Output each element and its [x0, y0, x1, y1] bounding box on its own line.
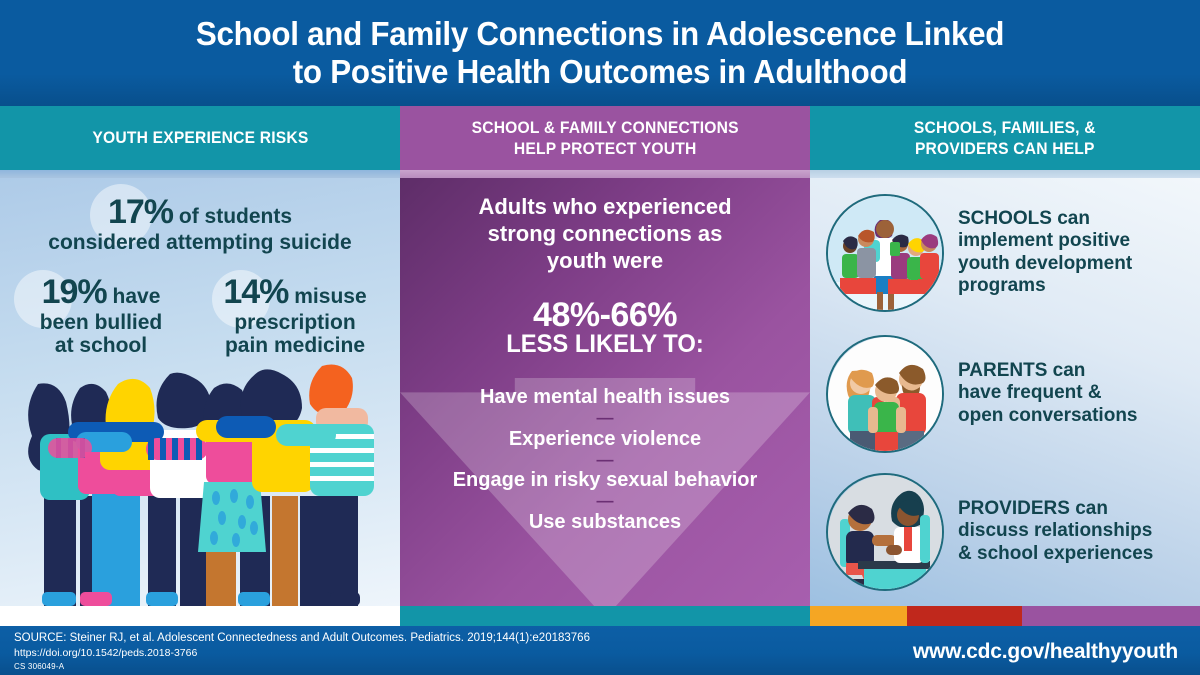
stat-suicide-line-2: considered attempting suicide	[14, 231, 386, 254]
schools-headline: SCHOOLS can	[958, 208, 1132, 230]
outcome-separator: —	[408, 494, 802, 508]
providers-actor: PROVIDERS	[958, 498, 1070, 519]
doctor-patient-icon	[826, 473, 944, 591]
connections-lead-text: Adults who experienced strong connection…	[430, 194, 780, 274]
stat-suicide-line-1: 17% of students	[14, 194, 386, 231]
group-of-youth-illustration	[0, 346, 400, 606]
stripe-segment-red	[907, 606, 1022, 626]
column-header-connections-label: SCHOOL & FAMILY CONNECTIONS HELP PROTECT…	[471, 117, 738, 160]
help-text-schools: SCHOOLS can implement positive youth dev…	[958, 208, 1132, 296]
cs-number: CS 306049-A	[14, 662, 64, 671]
parents-detail-2: open conversations	[958, 405, 1138, 427]
stat-bullied-line-2: been bullied	[16, 311, 186, 334]
source-doi[interactable]: https://doi.org/10.1542/peds.2018-3766	[14, 647, 197, 659]
stat-rx-inline: misuse	[288, 285, 366, 308]
stripe-segment-teal	[400, 606, 810, 626]
lead-line-2: strong connections as	[430, 221, 780, 248]
providers-detail-1: discuss relationships	[958, 520, 1153, 542]
stripe-segment-orange	[810, 606, 907, 626]
infographic-root: School and Family Connections in Adolesc…	[0, 0, 1200, 675]
panel-connections-protect: Adults who experienced strong connection…	[400, 178, 810, 606]
outcome-item: Engage in risky sexual behavior	[408, 466, 802, 494]
column-header-connections: SCHOOL & FAMILY CONNECTIONS HELP PROTECT…	[400, 106, 810, 170]
stat-rx-line-2: prescription	[200, 311, 390, 334]
footer-bar: SOURCE: Steiner RJ, et al. Adolescent Co…	[0, 626, 1200, 675]
parents-actor: PARENTS	[958, 360, 1047, 381]
outcome-item: Experience violence	[408, 425, 802, 453]
schools-detail-3: programs	[958, 275, 1132, 297]
help-text-parents: PARENTS can have frequent & open convers…	[958, 360, 1138, 426]
panel-who-can-help: SCHOOLS can implement positive youth dev…	[810, 178, 1200, 606]
stat-rx-percent: 14%	[223, 273, 288, 311]
schools-detail-1: implement positive	[958, 230, 1132, 252]
column-headers: YOUTH EXPERIENCE RISKS SCHOOL & FAMILY C…	[0, 106, 1200, 170]
header-shadow-right	[810, 170, 1200, 178]
less-likely-label: LESS LIKELY TO:	[439, 330, 772, 359]
family-talking-icon	[826, 335, 944, 453]
stripe-segment-purple	[1022, 606, 1200, 626]
stat-suicide-percent: 17%	[108, 193, 173, 231]
parents-headline: PARENTS can	[958, 360, 1138, 382]
title-line-2: to Positive Health Outcomes in Adulthood	[49, 53, 1151, 91]
stat-rx-line-1: 14% misuse	[200, 274, 390, 311]
parents-connector: can	[1047, 360, 1085, 381]
providers-headline: PROVIDERS can	[958, 498, 1153, 520]
outcomes-list: Have mental health issues — Experience v…	[408, 383, 802, 536]
help-header-line-2: PROVIDERS CAN HELP	[914, 138, 1096, 159]
title-bar: School and Family Connections in Adolesc…	[0, 0, 1200, 106]
help-item-schools: SCHOOLS can implement positive youth dev…	[818, 184, 1196, 321]
help-header-line-1: SCHOOLS, FAMILIES, &	[914, 117, 1096, 138]
lead-line-1: Adults who experienced	[430, 194, 780, 221]
help-item-parents: PARENTS can have frequent & open convers…	[818, 325, 1196, 462]
help-text-providers: PROVIDERS can discuss relationships & sc…	[958, 498, 1153, 564]
outcome-separator: —	[408, 411, 802, 425]
providers-detail-2: & school experiences	[958, 543, 1153, 565]
header-shadow-left	[0, 170, 400, 178]
connections-header-line-2: HELP PROTECT YOUTH	[471, 138, 738, 159]
outcome-item: Have mental health issues	[408, 383, 802, 411]
connections-header-line-1: SCHOOL & FAMILY CONNECTIONS	[471, 117, 738, 138]
panel-youth-risks: 17% of students considered attempting su…	[0, 178, 400, 606]
header-shadow-middle	[400, 170, 810, 178]
column-header-risks: YOUTH EXPERIENCE RISKS	[0, 106, 400, 170]
schools-connector: can	[1052, 208, 1090, 229]
parents-detail-1: have frequent &	[958, 382, 1138, 404]
outcome-item: Use substances	[408, 508, 802, 536]
stat-suicide-inline: of students	[173, 205, 292, 228]
stat-bullied-percent: 19%	[42, 273, 107, 311]
stripe-segment-white	[0, 606, 400, 626]
title-line-1: School and Family Connections in Adolesc…	[49, 15, 1151, 53]
column-header-help: SCHOOLS, FAMILIES, & PROVIDERS CAN HELP	[810, 106, 1200, 170]
stat-bullied-line-1: 19% have	[16, 274, 186, 311]
schools-actor: SCHOOLS	[958, 208, 1052, 229]
providers-connector: can	[1070, 498, 1108, 519]
students-in-classroom-icon	[826, 194, 944, 312]
stat-suicide: 17% of students considered attempting su…	[14, 194, 386, 254]
source-citation: SOURCE: Steiner RJ, et al. Adolescent Co…	[14, 632, 590, 644]
outcome-separator: —	[408, 453, 802, 467]
stat-bullied-inline: have	[107, 285, 161, 308]
lead-line-3: youth were	[430, 248, 780, 275]
column-header-risks-label: YOUTH EXPERIENCE RISKS	[92, 127, 308, 148]
help-item-providers: PROVIDERS can discuss relationships & sc…	[818, 463, 1196, 600]
cdc-url[interactable]: www.cdc.gov/healthyyouth	[913, 640, 1178, 664]
page-title: School and Family Connections in Adolesc…	[49, 15, 1151, 90]
column-header-help-label: SCHOOLS, FAMILIES, & PROVIDERS CAN HELP	[914, 117, 1096, 160]
schools-detail-2: youth development	[958, 253, 1132, 275]
connections-content: Adults who experienced strong connection…	[400, 178, 810, 606]
